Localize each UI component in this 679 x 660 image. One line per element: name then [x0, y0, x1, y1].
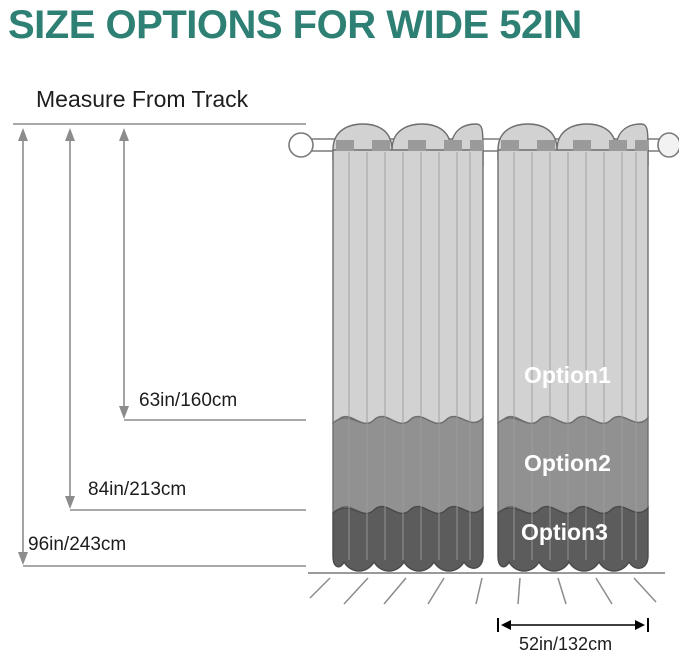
arrow-up-63 — [119, 128, 129, 141]
curtain-band-label-option1: Option1 — [524, 362, 611, 389]
panel-left-band-option2 — [333, 417, 483, 514]
dimension-label-option1: 63in/160cm — [139, 390, 237, 412]
infographic-canvas: SIZE OPTIONS FOR WIDE 52IN Measure From … — [0, 0, 679, 660]
dimension-label-option2: 84in/213cm — [88, 479, 186, 501]
rod-finial-left — [289, 133, 313, 157]
arrow-up-96 — [18, 128, 28, 141]
arrow-down-96 — [18, 552, 28, 565]
floor-perspective-lines — [310, 578, 656, 604]
width-arrowhead-left — [501, 620, 511, 630]
panel-left-band-option1 — [333, 150, 483, 423]
width-arrowhead-right — [635, 620, 645, 630]
arrow-up-84 — [65, 128, 75, 141]
curtain-panel-right — [498, 124, 648, 571]
rod-finial-right — [658, 133, 679, 157]
dimension-label-width: 52in/132cm — [519, 634, 612, 655]
arrow-down-63 — [119, 406, 129, 419]
curtain-size-diagram — [0, 0, 679, 660]
dimension-arrowheads-up — [18, 128, 129, 141]
curtain-panel-left — [333, 124, 483, 571]
curtain-band-label-option2: Option2 — [524, 450, 611, 477]
arrow-down-84 — [65, 496, 75, 509]
dimension-label-option3: 96in/243cm — [28, 534, 126, 556]
floor — [308, 573, 665, 604]
width-dimension — [498, 618, 648, 632]
curtain-band-label-option3: Option3 — [521, 519, 608, 546]
panel-left-band-option3 — [333, 507, 483, 571]
